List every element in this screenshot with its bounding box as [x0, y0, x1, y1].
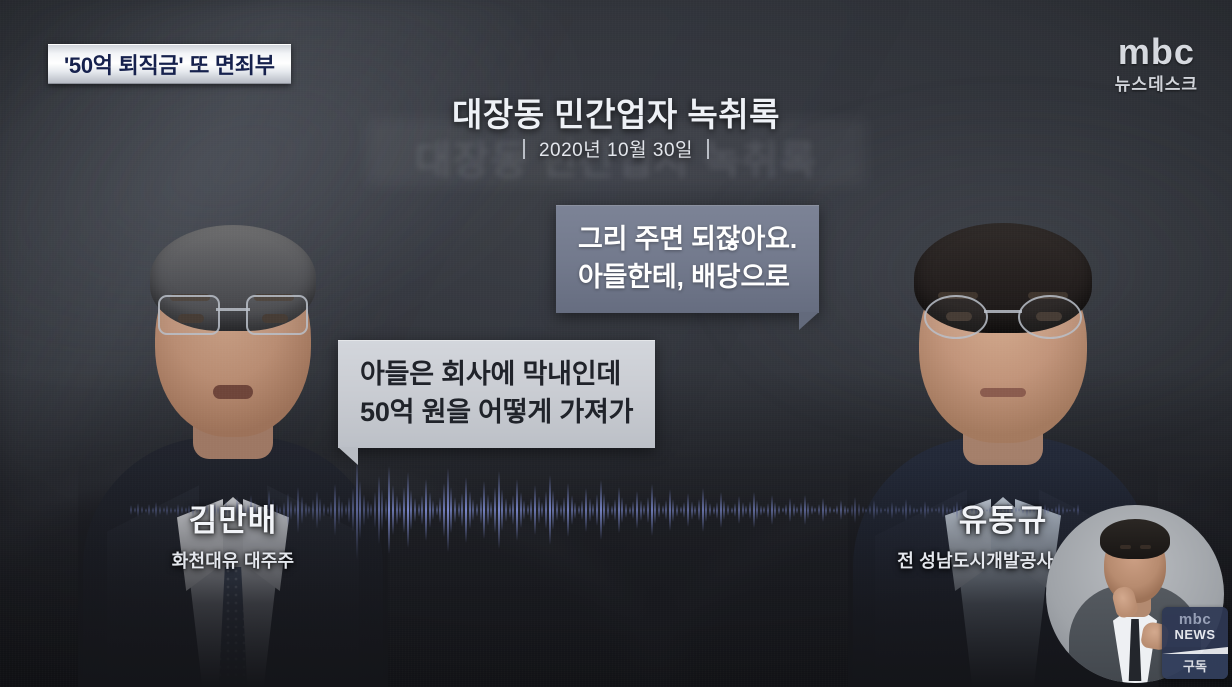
waveform-bar — [436, 504, 438, 516]
waveform-bar — [691, 501, 693, 520]
waveform-bar — [822, 498, 824, 522]
waveform-bar — [490, 501, 492, 519]
waveform-bar — [549, 475, 551, 545]
waveform-bar — [636, 491, 638, 529]
waveform-bar — [469, 491, 471, 529]
waveform-bar — [505, 498, 507, 522]
waveform-bar — [814, 507, 816, 513]
waveform-bar — [450, 487, 452, 533]
program-date: 2020년 10월 30일 — [0, 135, 1232, 162]
waveform-bar — [552, 490, 554, 530]
waveform-bar — [698, 499, 700, 521]
watermark-mbc-text: mbc — [1162, 612, 1228, 627]
waveform-bar — [720, 492, 722, 528]
waveform-bar — [789, 498, 791, 522]
waveform-bar — [392, 485, 394, 535]
waveform-bar — [611, 505, 613, 516]
date-separator-left — [523, 139, 525, 159]
waveform-bar — [432, 500, 434, 520]
waveform-bar — [756, 500, 758, 520]
waveform-bar — [574, 502, 576, 519]
waveform-bar — [578, 505, 580, 515]
waveform-bar — [734, 503, 736, 517]
waveform-bar — [425, 479, 427, 541]
waveform-bar — [403, 487, 405, 533]
waveform-bar — [443, 483, 445, 537]
waveform-bar — [603, 493, 605, 527]
waveform-bar — [731, 507, 733, 514]
waveform-bar — [520, 492, 522, 528]
waveform-bar — [829, 506, 831, 514]
waveform-bar — [665, 500, 667, 520]
waveform-bar — [407, 472, 409, 548]
waveform-bar — [800, 502, 802, 518]
speech-bubble-bottom-tail — [338, 447, 358, 465]
waveform-bar — [563, 497, 565, 523]
waveform-bar — [414, 498, 416, 522]
waveform-bar — [662, 505, 664, 515]
waveform-bar — [629, 506, 631, 515]
waveform-bar — [545, 491, 547, 529]
waveform-bar — [585, 488, 587, 532]
waveform-bar — [396, 495, 398, 525]
waveform-bar — [771, 495, 773, 525]
waveform-bar — [713, 506, 715, 515]
waveform-bar — [836, 505, 838, 515]
watermark-logo-block: mbc NEWS — [1162, 607, 1228, 647]
waveform-bar — [844, 505, 846, 516]
page-title: 대장동 민간업자 녹취록 — [0, 88, 1232, 136]
waveform-bar — [454, 497, 456, 523]
signer-eye-right — [1140, 545, 1151, 549]
headline-banner: '50억 퇴직금' 또 면죄부 — [48, 44, 291, 84]
speech-bubble-top-line-2: 아들한테, 배당으로 — [578, 258, 797, 296]
waveform-bar — [709, 503, 711, 517]
headline-text: '50억 퇴직금' 또 면죄부 — [64, 48, 275, 80]
speech-bubble-top: 그리 주면 되잖아요. 아들한테, 배당으로 — [556, 205, 819, 313]
waveform-bar — [669, 489, 671, 531]
watermark-divider — [1162, 647, 1228, 654]
waveform-bar — [716, 502, 718, 519]
nametag-left-name: 김만배 — [78, 495, 388, 540]
waveform-bar — [651, 484, 653, 536]
waveform-bar — [483, 481, 485, 539]
waveform-bar — [607, 501, 609, 520]
waveform-bar — [498, 471, 500, 549]
waveform-bar — [683, 502, 685, 518]
nametag-left: 김만배 화천대유 대주주 — [78, 495, 388, 573]
waveform-bar — [818, 504, 820, 516]
waveform-bar — [774, 502, 776, 519]
waveform-bar — [796, 506, 798, 514]
waveform-bar — [687, 493, 689, 527]
speech-bubble-bottom: 아들은 회사에 막내인데 50억 원을 어떻게 가져가 — [338, 340, 655, 448]
waveform-bar — [742, 502, 744, 518]
signer-eye-left — [1120, 545, 1131, 549]
waveform-bar — [509, 503, 511, 518]
waveform-bar — [643, 504, 645, 516]
waveform-bar — [541, 502, 543, 518]
waveform-bar — [458, 502, 460, 518]
waveform-bar — [461, 493, 463, 527]
waveform-bar — [429, 492, 431, 528]
waveform-bar — [556, 499, 558, 521]
waveform-bar — [581, 500, 583, 520]
waveform-bar — [825, 504, 827, 517]
waveform-bar — [804, 495, 806, 525]
waveform-bar — [782, 507, 784, 513]
waveform-bar — [647, 497, 649, 523]
waveform-bar — [439, 497, 441, 523]
waveform-bar — [807, 502, 809, 519]
waveform-bar — [654, 496, 656, 524]
waveform-bar — [560, 504, 562, 517]
subscribe-watermark: mbc NEWS 구독 — [1162, 607, 1228, 679]
waveform-bar — [672, 499, 674, 522]
waveform-bar — [614, 499, 616, 521]
waveform-bar — [632, 501, 634, 519]
waveform-bar — [567, 483, 569, 537]
waveform-bar — [472, 499, 474, 521]
waveform-bar — [388, 466, 390, 554]
waveform-bar — [760, 505, 762, 516]
waveform-bar — [625, 503, 627, 518]
waveform-bar — [680, 506, 682, 514]
nametag-left-role: 화천대유 대주주 — [78, 547, 388, 573]
program-date-text: 2020년 10월 30일 — [539, 135, 693, 162]
waveform-bar — [738, 496, 740, 524]
waveform-bar — [512, 495, 514, 525]
speech-bubble-top-tail — [799, 312, 819, 330]
waveform-bar — [767, 503, 769, 518]
waveform-bar — [476, 503, 478, 517]
waveform-bar — [745, 505, 747, 515]
mbc-logo: mbc 뉴스데스크 — [1115, 34, 1198, 93]
speech-bubble-bottom-line-2: 50억 원을 어떻게 가져가 — [360, 393, 633, 431]
waveform-bar — [596, 494, 598, 526]
waveform-bar — [494, 487, 496, 533]
waveform-bar — [705, 498, 707, 522]
waveform-bar — [487, 494, 489, 526]
waveform-bar — [399, 501, 401, 519]
waveform-bar — [421, 495, 423, 525]
waveform-bar — [702, 488, 704, 532]
waveform-bar — [763, 506, 765, 514]
waveform-bar — [785, 504, 787, 516]
waveform-bar — [538, 496, 540, 524]
waveform-bar — [723, 500, 725, 520]
waveform-bar — [840, 500, 842, 520]
waveform-bar — [600, 480, 602, 540]
waveform-bar — [618, 487, 620, 533]
waveform-bar — [753, 492, 755, 528]
waveform-bar — [640, 500, 642, 521]
waveform-bar — [465, 477, 467, 543]
waveform-bar — [589, 498, 591, 522]
waveform-bar — [727, 504, 729, 516]
waveform-bar — [447, 468, 449, 552]
waveform-bar — [534, 485, 536, 535]
speech-bubble-bottom-line-1: 아들은 회사에 막내인데 — [360, 355, 633, 393]
waveform-bar — [658, 502, 660, 518]
watermark-news-text: NEWS — [1162, 627, 1228, 643]
date-separator-right — [707, 139, 709, 159]
waveform-bar — [592, 503, 594, 517]
waveform-bar — [501, 489, 503, 531]
waveform-bar — [480, 496, 482, 524]
waveform-bar — [410, 490, 412, 530]
waveform-bar — [676, 504, 678, 517]
waveform-bar — [811, 505, 813, 515]
waveform-bar — [749, 501, 751, 519]
waveform-bar — [516, 479, 518, 541]
signer-hair — [1100, 519, 1170, 559]
waveform-bar — [571, 495, 573, 525]
watermark-subscribe-text: 구독 — [1162, 654, 1228, 679]
waveform-bar — [778, 505, 780, 515]
speech-bubble-top-line-1: 그리 주면 되잖아요. — [578, 220, 797, 258]
waveform-bar — [523, 500, 525, 520]
broadcast-screenshot: 대장동 민간업자 녹취록 — [0, 0, 1232, 687]
waveform-bar — [833, 508, 835, 513]
waveform-bar — [793, 503, 795, 517]
waveform-bar — [694, 505, 696, 516]
waveform-bar — [621, 497, 623, 523]
mbc-wordmark: mbc — [1115, 34, 1198, 70]
waveform-bar — [418, 503, 420, 517]
waveform-bar — [527, 504, 529, 516]
waveform-bar — [530, 498, 532, 522]
